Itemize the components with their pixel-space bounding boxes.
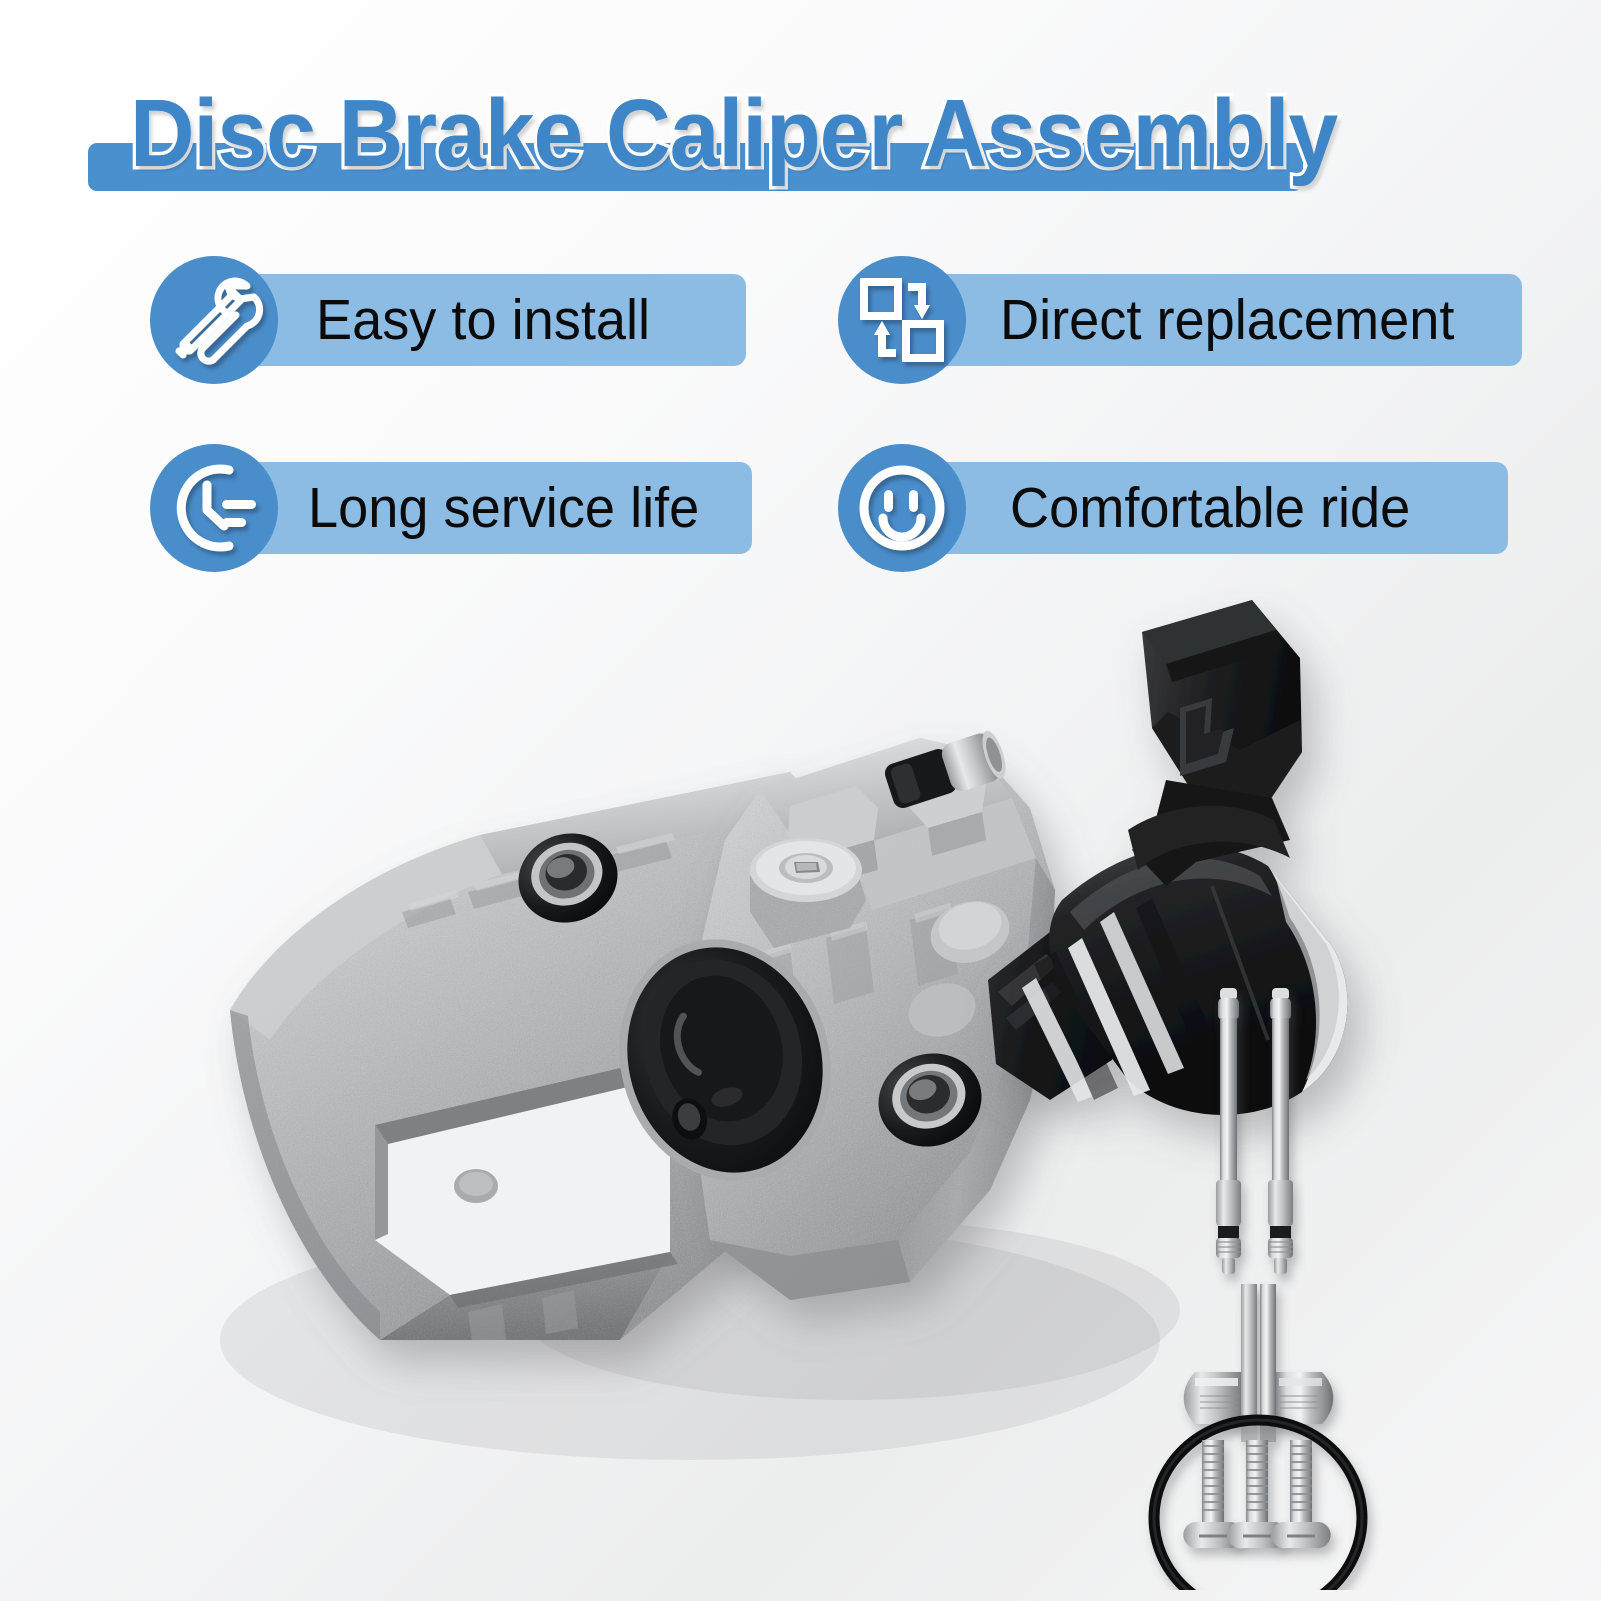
feature-label: Comfortable ride (1010, 462, 1410, 554)
clock-list-icon (150, 444, 278, 572)
feature-label: Easy to install (316, 274, 650, 366)
feature-badge-long-service-life: Long service life (150, 444, 762, 572)
feature-badge-direct-replacement: Direct replacement (838, 256, 1508, 384)
feature-badge-easy-to-install: Easy to install (150, 256, 750, 384)
swap-squares-icon (838, 256, 966, 384)
smiley-face-icon (838, 444, 966, 572)
feature-label: Long service life (308, 462, 699, 554)
page-title-text: Disc Brake Caliper Assembly (130, 86, 1227, 182)
tools-icon (150, 256, 278, 384)
feature-label: Direct replacement (1000, 274, 1454, 366)
disc-brake-caliper-assembly-photo (150, 540, 1550, 1590)
page-title: Disc Brake Caliper Assembly Disc Brake C… (88, 86, 1303, 196)
pan-head-screw-3 (1271, 1440, 1330, 1548)
product-marketing-image: Disc Brake Caliper Assembly Disc Brake C… (0, 0, 1601, 1601)
feature-badge-comfortable-ride: Comfortable ride (838, 444, 1492, 572)
